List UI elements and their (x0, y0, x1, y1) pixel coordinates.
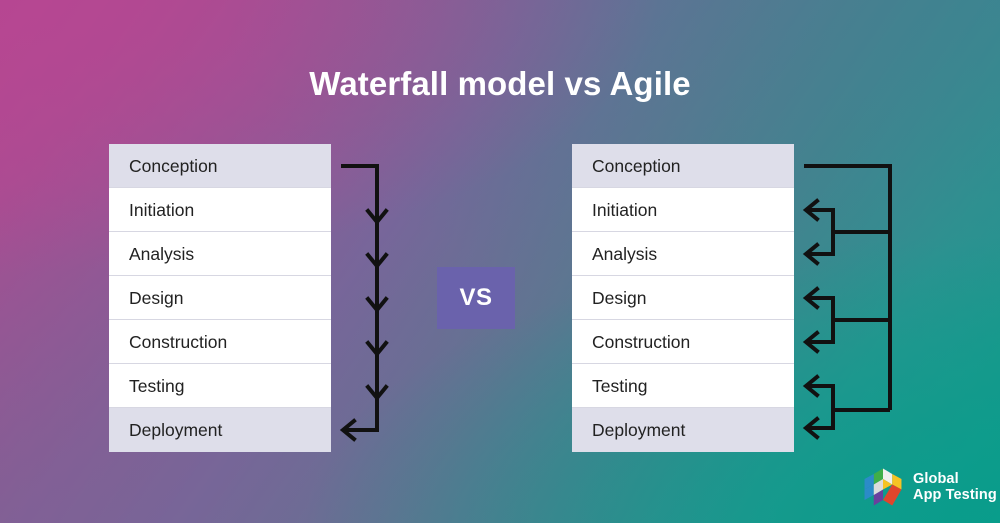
phase-row: Testing (572, 364, 794, 408)
brand-logo: Global App Testing (862, 466, 997, 508)
waterfall-chevron-down (368, 211, 386, 398)
phase-row: Conception (572, 144, 794, 188)
agile-arrowhead-left (806, 201, 817, 437)
page-title: Waterfall model vs Agile (0, 64, 1000, 104)
phase-row: Testing (109, 364, 331, 408)
phase-row: Deployment (572, 408, 794, 452)
brand-logo-line1: Global (913, 471, 997, 487)
phase-row: Construction (572, 320, 794, 364)
phase-row: Analysis (572, 232, 794, 276)
phase-row: Analysis (109, 232, 331, 276)
phase-row: Design (572, 276, 794, 320)
phase-row: Design (109, 276, 331, 320)
agile-phase-table: Conception Initiation Analysis Design Co… (572, 144, 794, 452)
phase-row: Initiation (572, 188, 794, 232)
waterfall-flow-path (341, 166, 377, 430)
waterfall-phase-table: Conception Initiation Analysis Design Co… (109, 144, 331, 452)
versus-badge: VS (437, 267, 515, 329)
phase-row: Initiation (109, 188, 331, 232)
agile-flow-path (804, 166, 890, 428)
hexagon-pinwheel-icon (862, 466, 904, 508)
infographic-canvas: Waterfall model vs Agile Conception Init… (0, 0, 1000, 523)
phase-row: Deployment (109, 408, 331, 452)
waterfall-arrowhead-left (343, 421, 354, 439)
phase-row: Conception (109, 144, 331, 188)
brand-logo-line2: App Testing (913, 487, 997, 503)
brand-logo-text: Global App Testing (913, 471, 997, 503)
phase-row: Construction (109, 320, 331, 364)
